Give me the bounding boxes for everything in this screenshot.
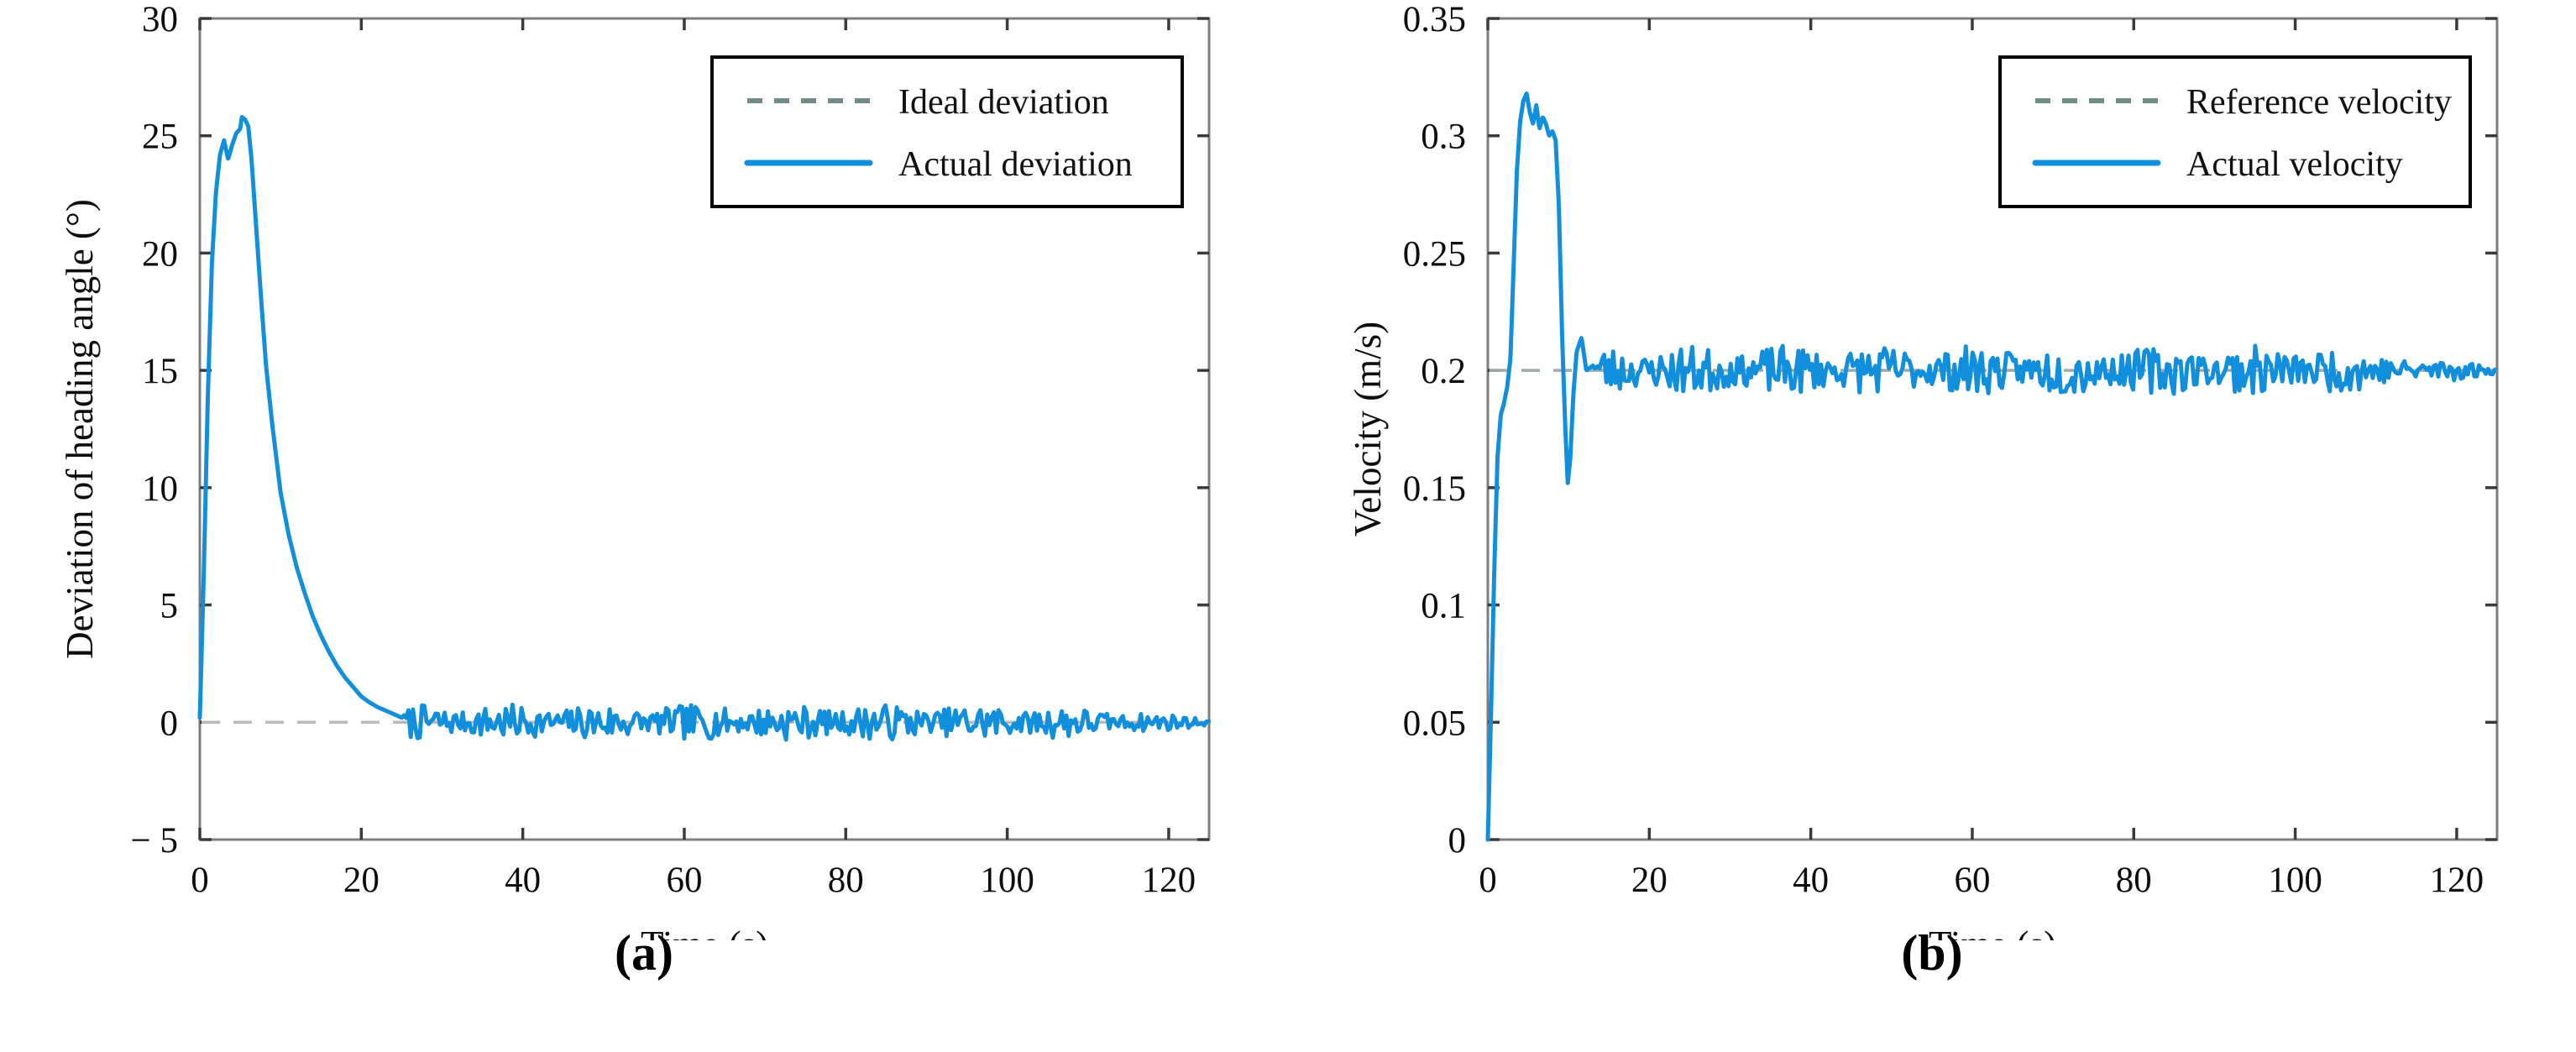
x-tick-label: 120: [1142, 861, 1196, 900]
x-tick-label: 0: [1479, 861, 1497, 900]
y-tick-label: 0.35: [1403, 0, 1466, 39]
y-tick-label: 0.2: [1421, 352, 1466, 391]
y-tick-label: 0.3: [1421, 118, 1466, 157]
y-tick-label: 0: [1448, 821, 1467, 861]
legend-label: Reference velocity: [2186, 83, 2452, 122]
y-tick-label: 30: [142, 0, 178, 39]
panel-a: 020406080100120− 5051015202530Time (s)De…: [0, 0, 1288, 1052]
chart-legend-b: Reference velocityActual velocity: [2000, 57, 2470, 207]
x-tick-label: 40: [1793, 861, 1829, 900]
x-tick-label: 60: [1954, 861, 1990, 900]
x-tick-label: 100: [980, 861, 1034, 900]
x-tick-label: 20: [343, 861, 380, 900]
y-tick-label: 0.1: [1421, 587, 1466, 626]
y-axis-title: Velocity (m/s): [1347, 322, 1389, 536]
y-tick-label: 5: [160, 587, 179, 626]
panel-a-caption: (a): [0, 928, 1288, 978]
deviation-chart: 020406080100120− 5051015202530Time (s)De…: [0, 0, 1288, 940]
y-tick-label: 0: [160, 704, 179, 743]
y-tick-label: 0.05: [1403, 704, 1466, 743]
x-tick-label: 20: [1631, 861, 1668, 900]
x-tick-label: 0: [191, 861, 209, 900]
y-tick-label: 10: [142, 469, 178, 509]
x-tick-label: 80: [2116, 861, 2152, 900]
x-tick-label: 60: [666, 861, 702, 900]
panel-b-plot: 02040608010012000.050.10.150.20.250.30.3…: [1288, 0, 2576, 940]
panel-a-plot: 020406080100120− 5051015202530Time (s)De…: [0, 0, 1288, 940]
x-tick-label: 80: [828, 861, 864, 900]
legend-label: Ideal deviation: [898, 83, 1109, 122]
legend-label: Actual deviation: [898, 145, 1133, 184]
panel-b-caption: (b): [1288, 928, 2576, 978]
y-tick-label: 20: [142, 234, 178, 274]
figure-container: 020406080100120− 5051015202530Time (s)De…: [0, 0, 2576, 1052]
y-tick-label: 0.25: [1403, 234, 1466, 274]
panel-b: 02040608010012000.050.10.150.20.250.30.3…: [1288, 0, 2576, 1052]
legend-box: [712, 57, 1182, 207]
y-axis-title: Deviation of heading angle (°): [59, 199, 101, 659]
chart-legend-a: Ideal deviationActual deviation: [712, 57, 1182, 207]
y-tick-label: 0.15: [1403, 469, 1466, 509]
legend-label: Actual velocity: [2186, 145, 2403, 184]
x-tick-label: 120: [2430, 861, 2484, 900]
y-tick-label: − 5: [130, 821, 178, 861]
y-tick-label: 25: [142, 118, 178, 157]
x-tick-label: 100: [2268, 861, 2322, 900]
y-tick-label: 15: [142, 352, 178, 391]
velocity-chart: 02040608010012000.050.10.150.20.250.30.3…: [1288, 0, 2576, 940]
legend-box: [2000, 57, 2470, 207]
x-tick-label: 40: [505, 861, 541, 900]
